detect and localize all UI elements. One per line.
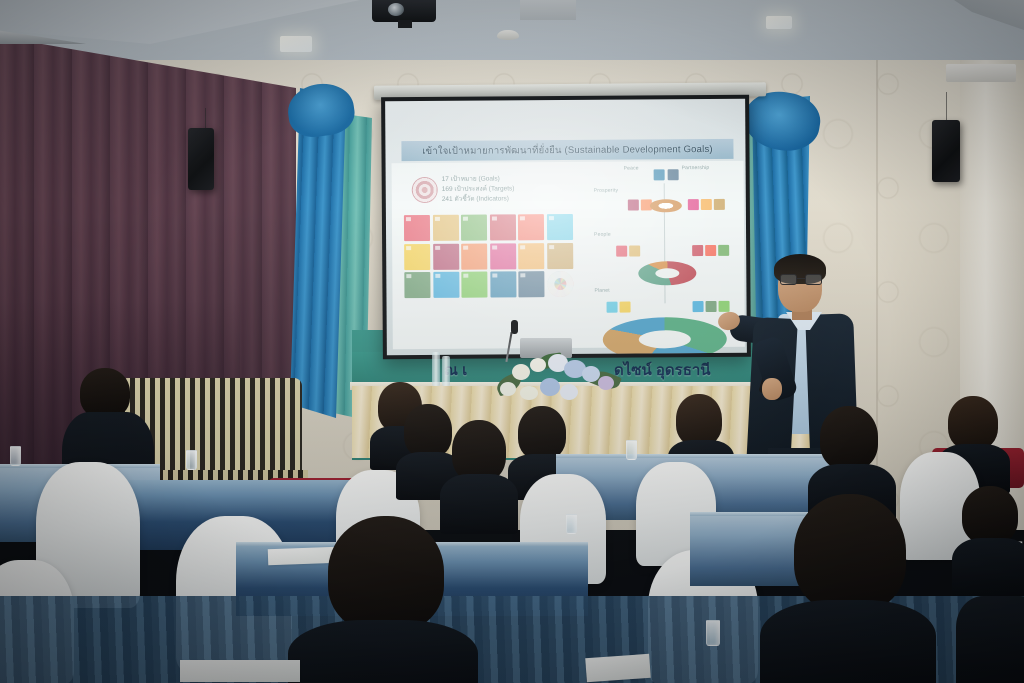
flower-bloom <box>520 386 538 400</box>
water-glass <box>706 620 720 646</box>
speaker-cord <box>205 108 206 130</box>
person-body <box>952 538 1024 598</box>
sdg-goal-16 <box>490 271 516 297</box>
sdg-goal-grid <box>404 214 573 298</box>
eyeglasses-icon <box>780 274 822 285</box>
sdg-goal-14 <box>433 272 459 298</box>
mini-goal-tile <box>616 246 627 257</box>
sdg-goal-5 <box>518 214 544 240</box>
audience-member <box>952 486 1024 596</box>
cake-label-people: People <box>594 232 611 238</box>
flower-bloom <box>598 376 614 390</box>
target-icon <box>412 177 438 203</box>
mini-goal-tile <box>629 245 640 256</box>
cake-label-prosperity: Prosperity <box>594 188 619 194</box>
air-conditioner <box>946 64 1016 82</box>
donut-people <box>638 261 696 285</box>
projector-lens-icon <box>388 3 404 16</box>
projection-screen: เข้าใจเป้าหมายการพัฒนาที่ยั่งยืน (Sustai… <box>381 95 751 360</box>
sdg-goal-12 <box>547 242 573 268</box>
cake-label-peace: Peace <box>624 165 639 171</box>
glasses-lens <box>805 274 822 285</box>
sdg-goal-7 <box>404 243 430 269</box>
mini-goal-tile <box>718 245 729 256</box>
projector <box>372 0 436 22</box>
water-bottle <box>442 356 450 386</box>
sdg-wheel-logo <box>547 271 573 297</box>
flower-bloom <box>512 364 530 380</box>
recessed-light-icon <box>280 36 312 52</box>
mini-goal-tile <box>693 301 704 312</box>
water-glass <box>566 514 577 534</box>
person-body <box>956 596 1024 683</box>
donut-prosperity <box>650 199 682 212</box>
wall-speaker-right <box>932 120 960 182</box>
flower-bloom <box>500 382 516 396</box>
sdg-goal-13 <box>404 272 430 298</box>
person-head <box>676 394 722 446</box>
mini-goal-tile <box>688 199 699 210</box>
ceiling-vent <box>520 0 576 20</box>
cake-label-partnership: Partnership <box>682 165 710 171</box>
flower-arrangement <box>494 352 622 404</box>
sdg-goal-17 <box>518 271 544 297</box>
document-paper <box>585 654 651 682</box>
sdg-goal-15 <box>461 272 487 298</box>
mini-goal-tile <box>628 199 639 210</box>
mini-goal-tile <box>607 302 618 313</box>
sdg-goal-8 <box>433 243 459 269</box>
mini-goal-tile <box>719 301 730 312</box>
person-head <box>962 486 1018 544</box>
glasses-lens <box>780 274 797 285</box>
glasses-bridge <box>797 278 805 279</box>
smoke-detector-icon <box>497 30 519 40</box>
slide-bullet: 241 ตัวชี้วัด (Indicators) <box>442 194 582 205</box>
audience-member-foreground <box>288 516 478 683</box>
water-glass <box>186 450 197 470</box>
flower-bloom <box>582 366 600 382</box>
water-bottle <box>432 352 440 386</box>
person-head <box>328 516 444 632</box>
cake-label-planet: Planet <box>594 288 609 294</box>
mini-goal-tile <box>701 199 712 210</box>
flower-bloom <box>540 378 560 396</box>
slide-title-bar: เข้าใจเป้าหมายการพัฒนาที่ยั่งยืน (Sustai… <box>401 139 733 161</box>
sdg-goal-4 <box>489 214 515 240</box>
wall-speaker-left <box>188 128 214 190</box>
projector-mount <box>398 20 412 28</box>
document-paper <box>180 660 300 682</box>
person-head <box>948 396 998 450</box>
recessed-light-icon <box>766 16 792 29</box>
sdg-goal-9 <box>461 243 487 269</box>
microphone-head-icon <box>511 320 518 334</box>
sdg-goal-11 <box>518 243 544 269</box>
speaker-cord <box>946 92 947 122</box>
flower-bloom <box>560 384 578 400</box>
person-head <box>452 420 506 482</box>
person-body <box>760 600 936 683</box>
donut-planet <box>603 317 727 355</box>
person-head <box>794 494 906 612</box>
sdg-goal-3 <box>461 215 487 241</box>
mini-goal-tile <box>654 169 665 180</box>
mini-goal-tile <box>714 199 725 210</box>
sdg-goal-2 <box>432 215 458 241</box>
person-head <box>518 406 566 460</box>
person-head <box>820 406 878 470</box>
sdg-goal-6 <box>546 214 572 240</box>
audience-member-foreground <box>956 596 1024 683</box>
slide-bullet-list: 17 เป้าหมาย (Goals) 169 เป้าประสงค์ (Tar… <box>442 174 582 205</box>
mini-goal-tile <box>692 245 703 256</box>
slide-surface: เข้าใจเป้าหมายการพัฒนาที่ยั่งยืน (Sustai… <box>385 99 747 356</box>
sdg-goal-10 <box>490 243 516 269</box>
mini-goal-tile <box>706 301 717 312</box>
audience-member-foreground <box>760 494 936 683</box>
person-body <box>288 620 478 683</box>
mini-goal-tile <box>668 169 679 180</box>
mini-goal-tile <box>620 302 631 313</box>
slide-title: เข้าใจเป้าหมายการพัฒนาที่ยั่งยืน (Sustai… <box>422 141 713 158</box>
banner-text-right: ดไซน์ อุดรธานี <box>614 358 711 382</box>
flower-bloom <box>530 358 546 372</box>
sdg-goal-1 <box>404 215 430 241</box>
person-head <box>80 368 130 418</box>
conference-room-photo: ณ เ ดไซน์ อุดรธานี หรับ เข้าใจเป้าหมายกา… <box>0 0 1024 683</box>
water-glass <box>626 440 637 460</box>
slide-body: 17 เป้าหมาย (Goals) 169 เป้าประสงค์ (Tar… <box>392 161 745 349</box>
mini-goal-tile <box>705 245 716 256</box>
water-glass <box>10 446 21 466</box>
presenter-right-hand <box>762 378 782 400</box>
